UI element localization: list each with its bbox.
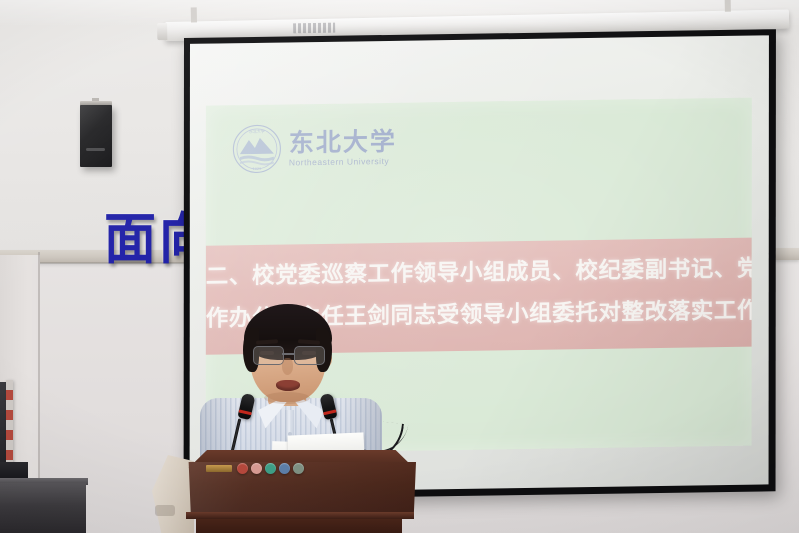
podium-lip (186, 512, 414, 519)
podium-base (196, 519, 402, 533)
podium-button-red[interactable] (237, 463, 248, 474)
podium-button-teal[interactable] (265, 463, 276, 474)
svg-text:1923: 1923 (253, 167, 262, 171)
speaker-port (86, 148, 105, 151)
podium-nameplate (206, 465, 232, 472)
slide-logo-text: 东北大学 Northeastern University (289, 129, 397, 167)
lens-left (253, 346, 284, 365)
wall-speaker (80, 105, 112, 167)
striped-pole (6, 380, 13, 468)
casing-mount-right (725, 0, 731, 12)
lens-right (294, 346, 325, 365)
podium-button-pink[interactable] (251, 463, 262, 474)
mic-ring-left (238, 409, 251, 415)
casing-mount-left (191, 7, 197, 22)
svg-text:东北大学: 东北大学 (249, 128, 265, 134)
podium-button-gray-green[interactable] (293, 463, 304, 474)
mouth (276, 380, 300, 391)
podium-button-blue[interactable] (279, 463, 290, 474)
glasses-bridge (282, 353, 294, 355)
neu-seal-icon: 东北大学 1923 (232, 124, 282, 175)
slide-logo-chinese: 东北大学 (289, 129, 397, 156)
mic-ring-right (323, 409, 336, 415)
foreground-equipment (0, 483, 86, 533)
slide-university-logo: 东北大学 1923 东北大学 Northeastern University (232, 118, 422, 177)
conference-room-photo: 面向 东北大学 (0, 0, 799, 533)
nose (282, 358, 293, 375)
slide-logo-english: Northeastern University (289, 157, 397, 167)
casing-brand-logo-icon (293, 23, 335, 34)
chin-shadow (264, 392, 310, 404)
podium-side-notch (155, 505, 175, 516)
casing-endcap (157, 23, 167, 40)
